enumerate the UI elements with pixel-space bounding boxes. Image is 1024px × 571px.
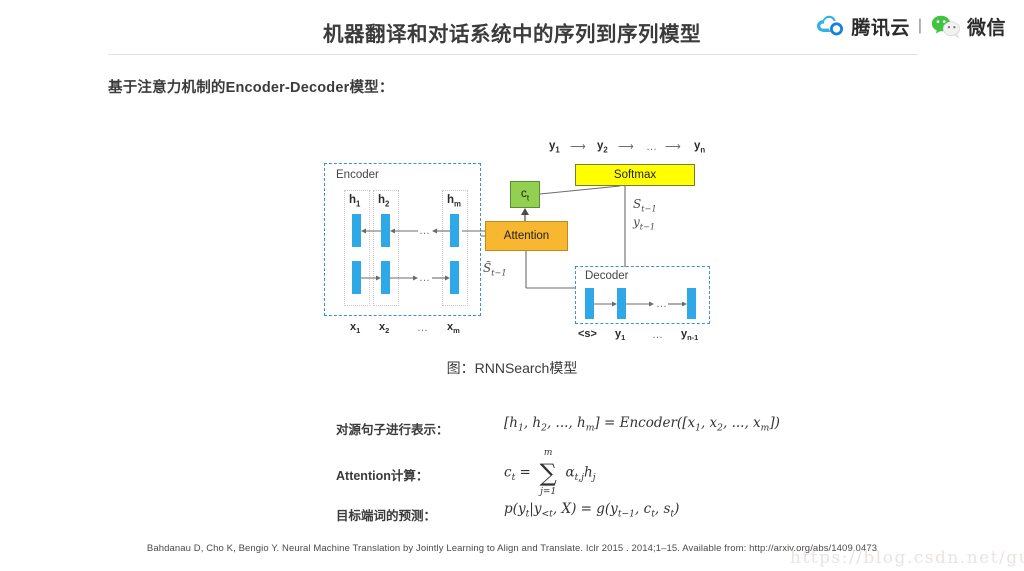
- brand-label-wechat: 微信: [967, 13, 1006, 40]
- wechat-icon: [930, 14, 962, 38]
- summation-lower-limit: j=1: [535, 487, 561, 497]
- summation-symbol: m ∑ j=1: [535, 461, 561, 485]
- formula-expr-attention: ct = m ∑ j=1 αt,jhj: [504, 461, 596, 485]
- page-header: 机器翻译和对话系统中的序列到序列模型 腾讯云 | 微信: [0, 0, 1024, 55]
- formula-label-representation: 对源句子进行表示：: [336, 419, 449, 438]
- formula-expr-prediction: p(yt|y<t, X) = g(yt−1, ct, st): [504, 501, 679, 520]
- formula-list: 对源句子进行表示： [h1, h2, ..., hm] = Encoder([x…: [336, 415, 896, 539]
- formula-label-prediction: 目标端词的预测：: [336, 505, 436, 524]
- formula-expr-representation: [h1, h2, ..., hm] = Encoder([x1, x2, ...…: [504, 415, 780, 434]
- figure-caption: 图：RNNSearch模型: [0, 358, 1024, 378]
- watermark-text: https://blog.csdn.net/guleileo: [790, 548, 1024, 568]
- rnnsearch-diagram: y1 ⟶ y2 ⟶ … ⟶ yn Encoder h1 h2 hm … … x1: [320, 136, 710, 346]
- decoder-arrows: [320, 136, 710, 346]
- header-divider: [108, 54, 918, 55]
- formula-row-representation: 对源句子进行表示： [h1, h2, ..., hm] = Encoder([x…: [336, 415, 896, 453]
- brand-logos: 腾讯云 | 微信: [816, 11, 1006, 41]
- decoder-input-y1: y1: [615, 328, 625, 342]
- brand-label-cloud: 腾讯云: [851, 13, 910, 40]
- decoder-input-ellipsis: …: [652, 329, 664, 341]
- summation-upper-limit: m: [535, 448, 561, 458]
- formula-row-prediction: 目标端词的预测： p(yt|y<t, X) = g(yt−1, ct, st): [336, 501, 896, 539]
- brand-separator: |: [918, 17, 922, 35]
- formula-row-attention: Attention计算： ct = m ∑ j=1 αt,jhj: [336, 453, 896, 495]
- decoder-ellipsis: …: [656, 298, 668, 310]
- decoder-input-yn1: yn-1: [681, 328, 698, 342]
- section-subtitle: 基于注意力机制的Encoder-Decoder模型：: [108, 76, 394, 97]
- formula-label-attention: Attention计算：: [336, 465, 428, 484]
- decoder-input-sos: <s>: [578, 328, 597, 340]
- tencent-cloud-icon: [816, 15, 846, 37]
